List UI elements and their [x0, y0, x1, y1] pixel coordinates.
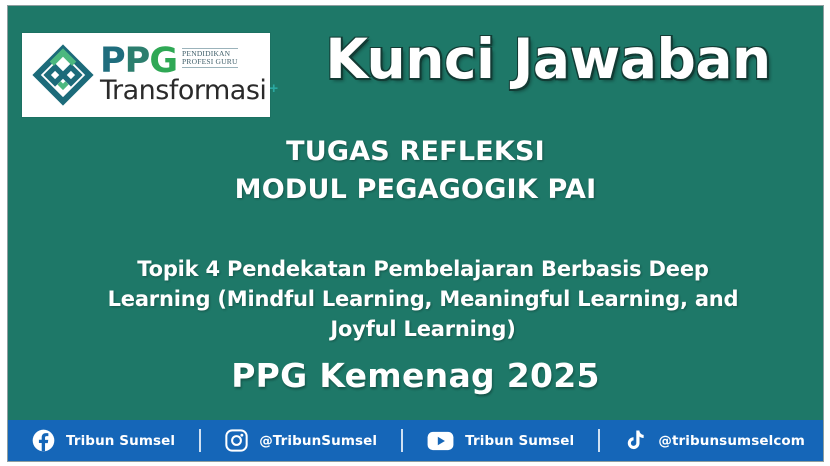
social-separator-2 [401, 429, 403, 452]
facebook-icon[interactable] [32, 429, 55, 452]
poster-frame: PPG PENDIDIKAN PROFESI GURU Transformasi… [7, 5, 824, 462]
ppg-diamond-logo-icon [30, 42, 96, 108]
tiktok-icon[interactable] [624, 429, 647, 452]
poster-topic-line3: Joyful Learning) [68, 314, 778, 344]
ppg-logo-wordmark: PPG PENDIDIKAN PROFESI GURU Transformasi… [100, 45, 278, 106]
poster-subtitle-line2: MODUL PEGAGOGIK PAI [8, 171, 823, 209]
poster-topic: Topik 4 Pendekatan Pembelajaran Berbasis… [68, 254, 778, 344]
ppg-logo-card: PPG PENDIDIKAN PROFESI GURU Transformasi… [22, 33, 270, 117]
social-label-facebook: Tribun Sumsel [66, 433, 175, 449]
social-media-bar: Tribun Sumsel @TribunSumsel Tribun Sumse… [8, 420, 823, 461]
poster-headline: Kunci Jawaban [270, 28, 824, 90]
poster-canvas: PPG PENDIDIKAN PROFESI GURU Transformasi… [0, 0, 830, 466]
social-label-instagram: @TribunSumsel [259, 433, 377, 449]
instagram-icon[interactable] [225, 429, 248, 452]
social-item-facebook[interactable]: Tribun Sumsel [32, 429, 175, 452]
social-label-youtube: Tribun Sumsel [465, 433, 574, 449]
poster-topic-line1: Topik 4 Pendekatan Pembelajaran Berbasis… [68, 254, 778, 284]
ppg-tagline: PENDIDIKAN PROFESI GURU [182, 48, 238, 69]
poster-subtitle-line1: TUGAS REFLEKSI [8, 133, 823, 171]
youtube-icon[interactable] [427, 431, 454, 451]
poster-subtitle: TUGAS REFLEKSI MODUL PEGAGOGIK PAI [8, 133, 823, 209]
ppg-transformasi-word: Transformasi [100, 76, 266, 106]
social-item-tiktok[interactable]: @tribunsumselcom [624, 429, 805, 452]
social-separator-1 [199, 429, 201, 452]
social-separator-3 [598, 429, 600, 452]
social-label-tiktok: @tribunsumselcom [658, 433, 805, 449]
social-item-youtube[interactable]: Tribun Sumsel [427, 431, 574, 451]
poster-program: PPG Kemenag 2025 [8, 355, 823, 397]
ppg-tagline-line2: PROFESI GURU [182, 58, 238, 66]
social-item-instagram[interactable]: @TribunSumsel [225, 429, 377, 452]
poster-topic-line2: Learning (Mindful Learning, Meaningful L… [68, 284, 778, 314]
